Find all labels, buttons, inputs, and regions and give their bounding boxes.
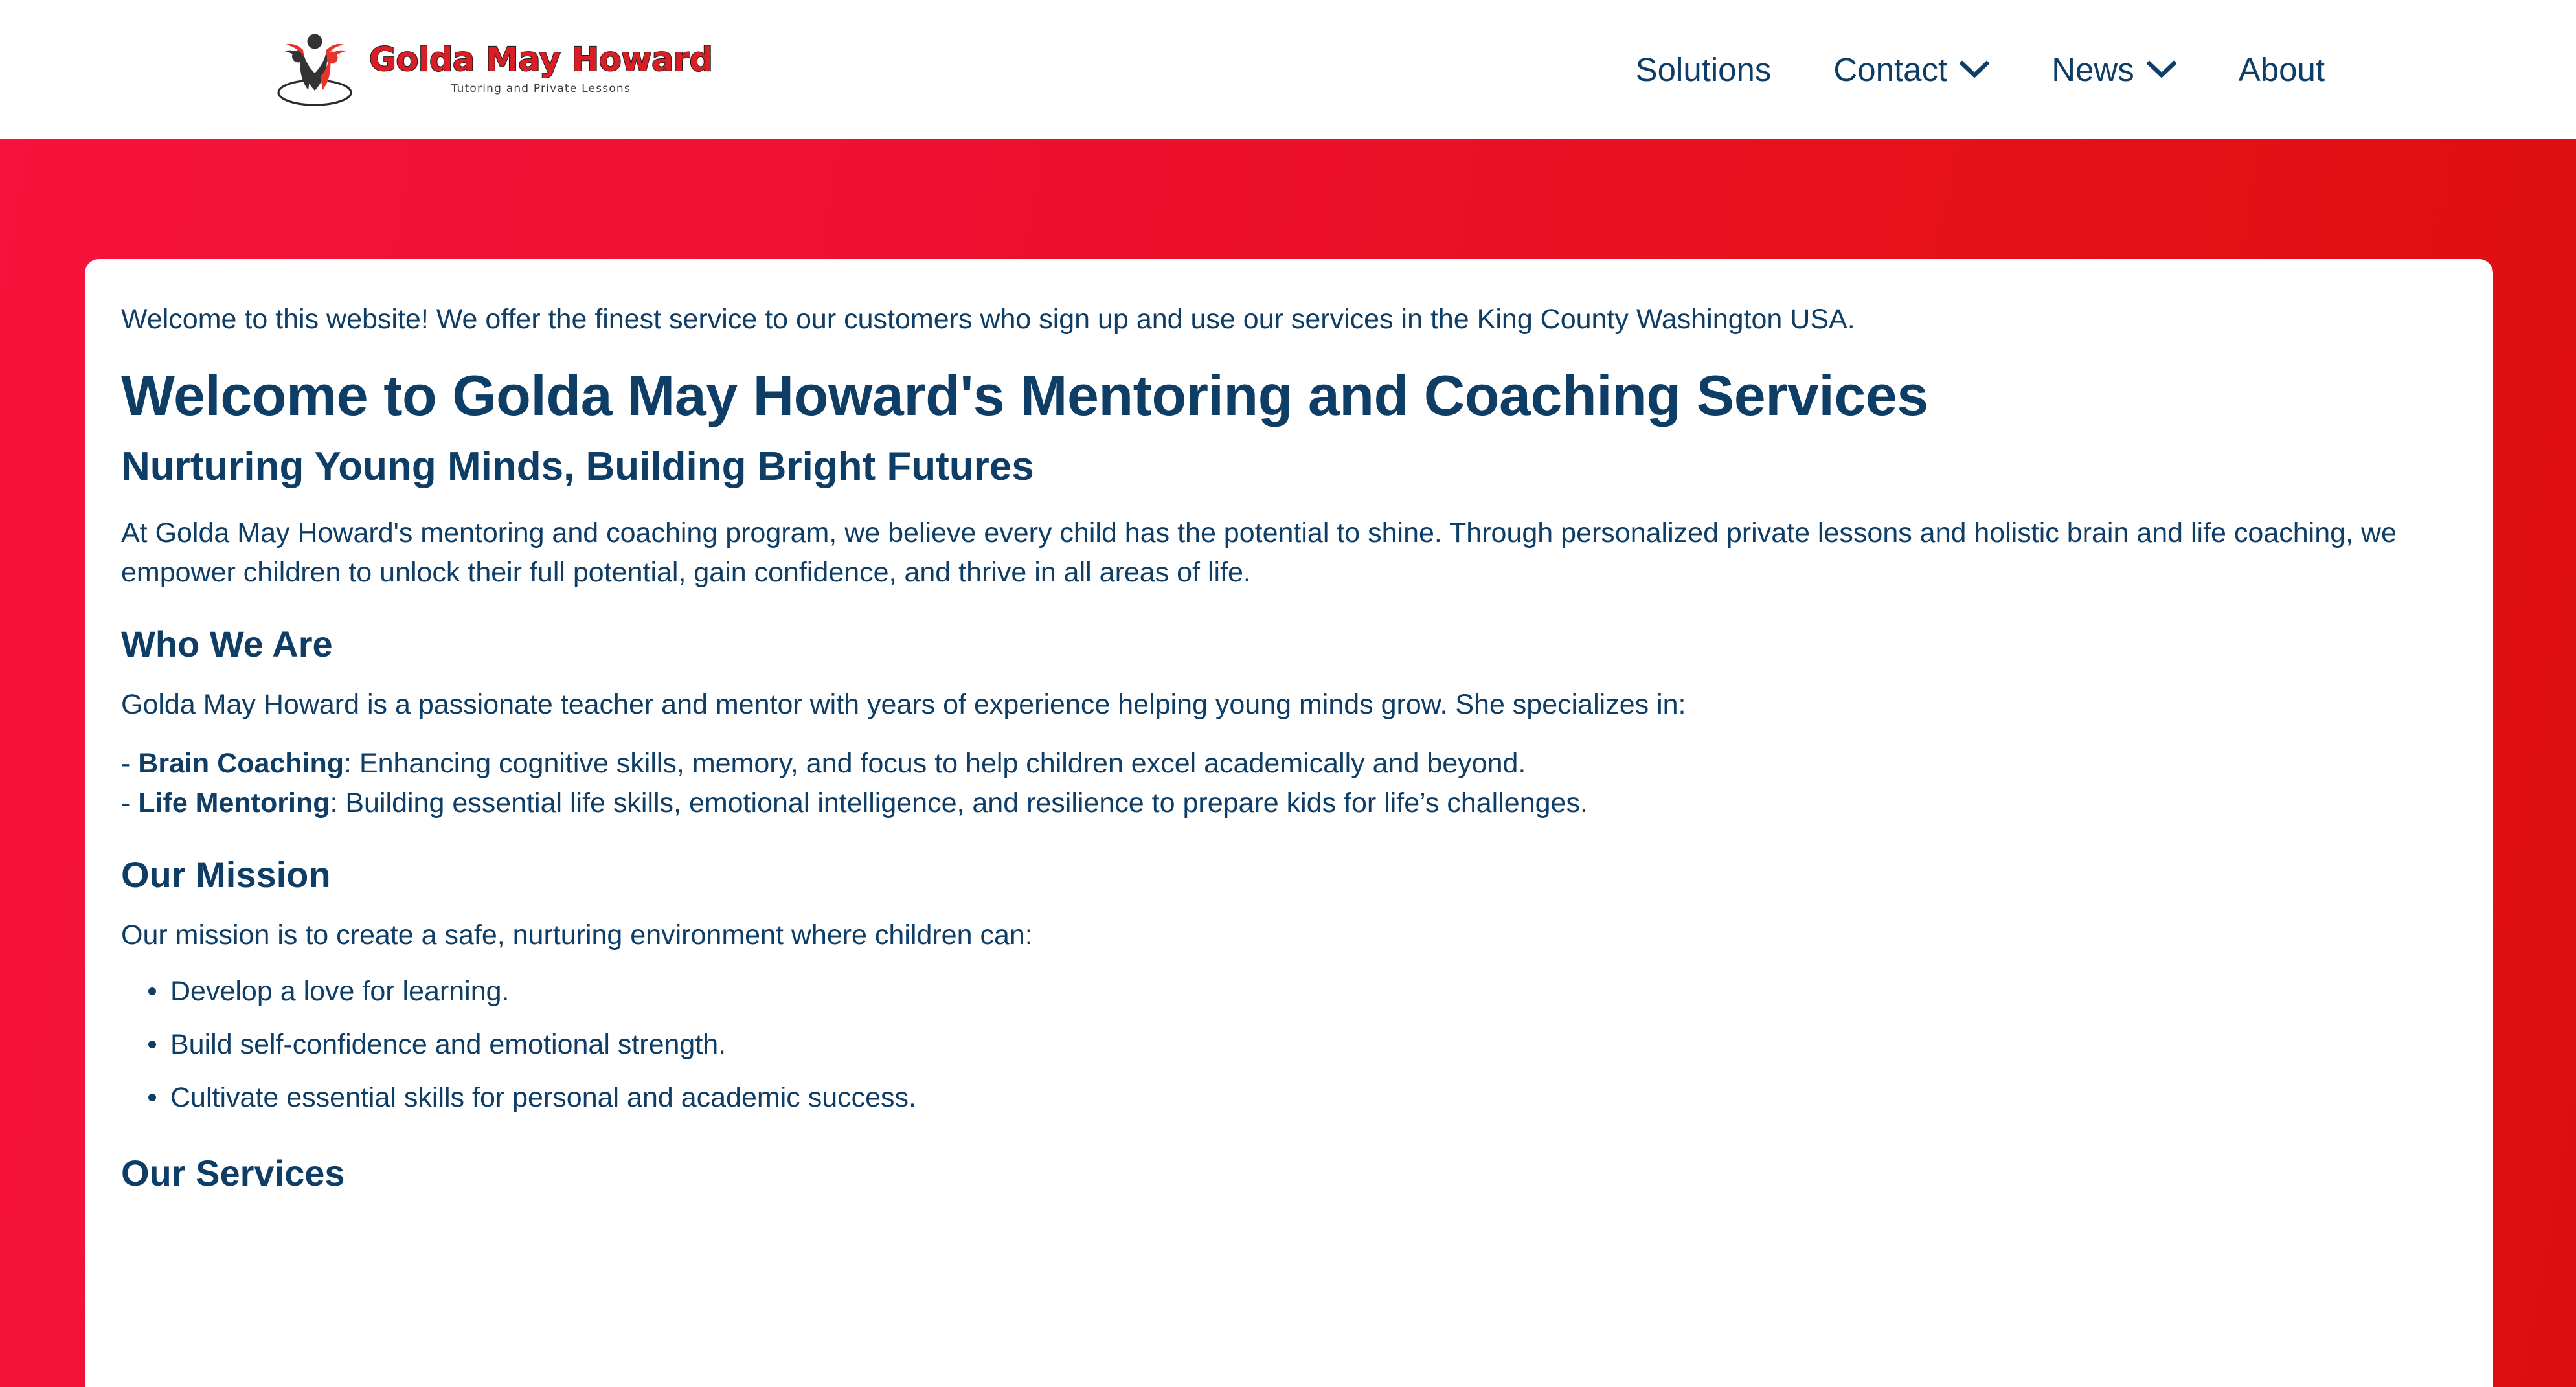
section-heading-our-mission: Our Mission [121,853,2457,896]
three-people-logo-icon [272,30,357,108]
page-root: Golda May Howard Tutoring and Private Le… [0,0,2576,1387]
specialty-row: - Life Mentoring: Building essential lif… [121,784,2457,823]
nav-item-label: News [2051,53,2134,86]
list-item: Build self-confidence and emotional stre… [146,1025,2457,1065]
section-heading-our-services: Our Services [121,1151,2457,1195]
page-subtitle: Nurturing Young Minds, Building Bright F… [121,443,2457,491]
main-navigation: Solutions Contact News About [1605,53,2356,86]
specialty-description: : Building essential life skills, emotio… [330,787,1587,818]
brand-logo-link[interactable]: Golda May Howard Tutoring and Private Le… [272,30,713,108]
specialty-dash: - [121,787,138,818]
nav-item-about[interactable]: About [2208,53,2356,86]
specialty-row: - Brain Coaching: Enhancing cognitive sk… [121,744,2457,784]
list-item: Cultivate essential skills for personal … [146,1078,2457,1118]
content-card: Welcome to this website! We offer the fi… [85,259,2493,1387]
nav-item-label: Contact [1833,53,1947,86]
chevron-down-icon[interactable] [1960,60,1989,79]
nav-item-solutions[interactable]: Solutions [1605,53,1803,86]
mission-bullet-list: Develop a love for learning. Build self-… [121,972,2457,1118]
nav-item-label: About [2239,53,2325,86]
nav-item-label: Solutions [1636,53,1772,86]
nav-item-news[interactable]: News [2020,53,2208,86]
page-title: Welcome to Golda May Howard's Mentoring … [121,363,2457,429]
who-we-are-paragraph: Golda May Howard is a passionate teacher… [121,685,2457,725]
specialties-list: - Brain Coaching: Enhancing cognitive sk… [121,744,2457,823]
site-header: Golda May Howard Tutoring and Private Le… [0,0,2576,139]
specialty-description: : Enhancing cognitive skills, memory, an… [344,748,1526,779]
specialty-term: Life Mentoring [138,787,330,818]
chevron-down-icon[interactable] [2147,60,2176,79]
section-heading-who-we-are: Who We Are [121,622,2457,666]
our-mission-paragraph: Our mission is to create a safe, nurturi… [121,916,2457,955]
intro-text: Welcome to this website! We offer the fi… [121,300,2457,338]
brand-tagline: Tutoring and Private Lessons [451,82,631,95]
list-item: Develop a love for learning. [146,972,2457,1011]
specialty-term: Brain Coaching [138,748,344,779]
lead-paragraph: At Golda May Howard's mentoring and coac… [121,513,2457,592]
nav-item-contact[interactable]: Contact [1802,53,2020,86]
brand-wordmark: Golda May Howard Tutoring and Private Le… [369,43,713,95]
brand-name: Golda May Howard [369,43,713,76]
specialty-dash: - [121,748,138,779]
